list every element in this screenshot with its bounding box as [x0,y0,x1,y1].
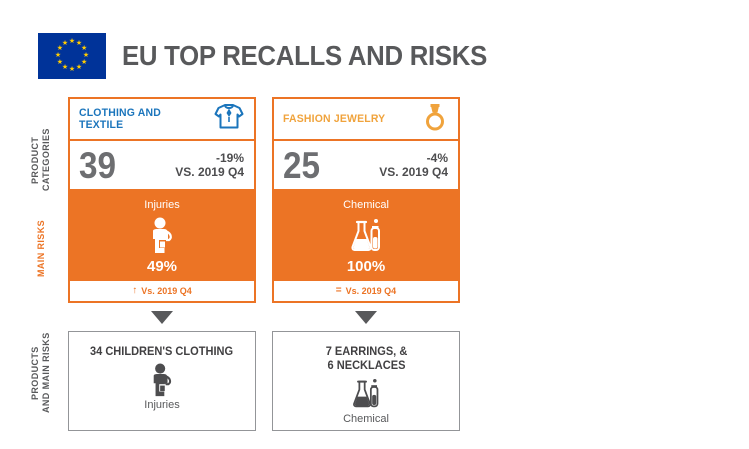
recall-delta-percent: -19% [175,151,244,165]
recall-count: 39 [79,147,116,184]
main-risk-percent: 100% [272,258,460,275]
eu-star-icon: ★ [61,40,69,48]
recall-count-band: 39 -19% VS. 2019 Q4 [68,141,256,191]
equals-icon: = [336,286,342,296]
recall-count: 25 [283,147,320,184]
product-risk-label: Chemical [343,413,389,426]
eu-star-icon: ★ [56,59,64,67]
category-title: CLOTHING AND TEXTILE [79,107,207,131]
eu-flag: ★★★★★★★★★★★★ [38,33,106,79]
product-risk-label: Injuries [144,399,179,412]
category-column-clothing: CLOTHING AND TEXTILE 39 -19% VS. 2019 Q4… [68,97,256,431]
injured-person-icon [148,361,176,399]
category-column-jewelry: FASHION JEWELRY 25 -4% VS. 2019 Q4 Chemi… [272,97,460,431]
recall-count-band: 25 -4% VS. 2019 Q4 [272,141,460,191]
chemical-flask-icon [272,214,460,258]
eu-star-icon: ★ [54,52,62,60]
product-detail-box: 7 EARRINGS, & 6 NECKLACES Chemical [272,331,460,431]
page-title: EU TOP RECALLS AND RISKS [122,40,487,72]
recall-delta-comparison: VS. 2019 Q4 [175,165,244,179]
category-title: FASHION JEWELRY [283,113,385,125]
risk-comparison-strip: = Vs. 2019 Q4 [272,281,460,303]
section-label-main-risks: MAIN RISKS [36,215,47,281]
product-name: 34 CHILDREN'S CLOTHING [90,345,233,359]
category-header: CLOTHING AND TEXTILE [68,97,256,141]
ring-icon [422,102,448,137]
main-risk-percent: 49% [68,258,256,275]
arrow-down-icon [151,311,173,324]
risk-comparison-label: Vs. 2019 Q4 [346,286,397,296]
chemical-flask-icon [351,375,381,413]
recall-delta: -4% VS. 2019 Q4 [379,151,448,179]
risk-comparison-label: Vs. 2019 Q4 [141,286,192,296]
eu-star-icon: ★ [75,64,83,72]
recall-delta-comparison: VS. 2019 Q4 [379,165,448,179]
connector-arrow [272,303,460,331]
main-risk-name: Chemical [272,198,460,212]
tshirt-icon [214,103,244,135]
product-detail-box: 34 CHILDREN'S CLOTHING Injuries [68,331,256,431]
recall-delta-percent: -4% [379,151,448,165]
risk-comparison-strip: ↑ Vs. 2019 Q4 [68,281,256,303]
main-risk-band: Injuries 49% [68,191,256,281]
category-header: FASHION JEWELRY [272,97,460,141]
section-label-product-categories: PRODUCT CATEGORIES [30,120,52,200]
eu-star-icon: ★ [68,66,76,74]
main-risk-band: Chemical 100% [272,191,460,281]
injured-person-icon [68,214,256,258]
up-arrow-icon: ↑ [132,286,137,296]
section-label-products-and-main-risks: PRODUCTS AND MAIN RISKS [30,330,52,416]
product-name: 7 EARRINGS, & 6 NECKLACES [325,345,407,373]
main-risk-name: Injuries [68,198,256,212]
page-header: ★★★★★★★★★★★★ EU TOP RECALLS AND RISKS [38,33,519,79]
recall-delta: -19% VS. 2019 Q4 [175,151,244,179]
arrow-down-icon [355,311,377,324]
connector-arrow [68,303,256,331]
